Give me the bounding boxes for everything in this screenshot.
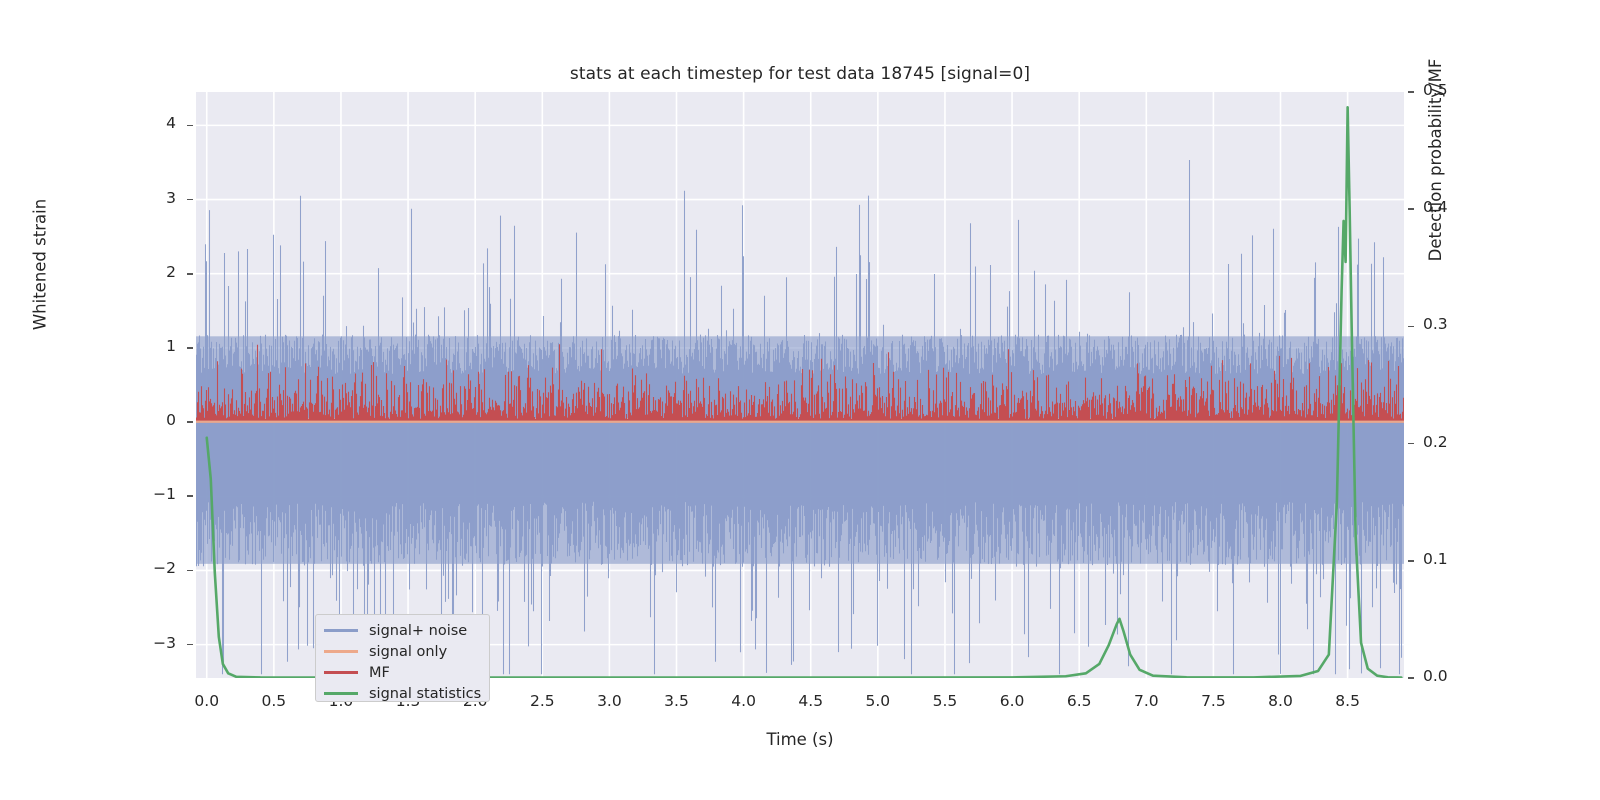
y-tick-left-neg3: −3 (136, 634, 176, 652)
legend-item-signal-statistics: signal statistics (324, 683, 481, 704)
y-tick-left-4: 4 (136, 114, 176, 132)
chart-title: stats at each timestep for test data 187… (196, 64, 1404, 84)
x-tick-4.0: 4.0 (714, 692, 774, 710)
y-tick-left-neg2: −2 (136, 559, 176, 577)
x-tick-5.0: 5.0 (848, 692, 908, 710)
plot-area (196, 92, 1404, 678)
y-tick-mark-right-4 (1408, 208, 1414, 210)
x-tick-2.5: 2.5 (512, 692, 572, 710)
x-tick-4.5: 4.5 (781, 692, 841, 710)
x-tick-5.5: 5.5 (915, 692, 975, 710)
y-tick-mark-left-3 (187, 421, 193, 423)
x-tick-0.0: 0.0 (177, 692, 237, 710)
y-tick-mark-left-5 (187, 273, 193, 275)
y-tick-mark-left-2 (187, 495, 193, 497)
x-tick-7.0: 7.0 (1116, 692, 1176, 710)
plot-svg (196, 92, 1404, 678)
y-tick-right-0.2: 0.2 (1423, 433, 1483, 451)
y-tick-right-0.5: 0.5 (1423, 81, 1483, 99)
x-tick-6.0: 6.0 (982, 692, 1042, 710)
y-tick-left-3: 3 (136, 189, 176, 207)
y-tick-mark-right-3 (1408, 326, 1414, 328)
y-tick-mark-left-7 (187, 125, 193, 127)
y-tick-mark-right-2 (1408, 443, 1414, 445)
y-tick-right-0.1: 0.1 (1423, 550, 1483, 568)
y-tick-left-2: 2 (136, 263, 176, 281)
x-tick-6.5: 6.5 (1049, 692, 1109, 710)
y-tick-mark-right-5 (1408, 91, 1414, 93)
y-tick-mark-left-6 (187, 199, 193, 201)
x-tick-8.5: 8.5 (1318, 692, 1378, 710)
y-tick-mark-right-1 (1408, 560, 1414, 562)
y-tick-left-0: 0 (136, 411, 176, 429)
y-tick-mark-left-1 (187, 570, 193, 572)
legend-swatch-signal-plus-noise (324, 629, 358, 632)
legend-label-mf: MF (369, 665, 390, 681)
legend-item-mf: MF (324, 662, 481, 683)
figure-canvas: stats at each timestep for test data 187… (0, 0, 1600, 800)
x-axis-label: Time (s) (196, 730, 1404, 749)
y-axis-right-label: Detection probability/MF (1426, 30, 1445, 290)
legend-label-signal-only: signal only (369, 644, 447, 660)
x-tick-3.0: 3.0 (579, 692, 639, 710)
legend-label-signal-plus-noise: signal+ noise (369, 623, 467, 639)
y-tick-left-1: 1 (136, 337, 176, 355)
legend-swatch-signal-only (324, 650, 358, 653)
legend-item-signal-plus-noise: signal+ noise (324, 620, 481, 641)
legend-swatch-mf (324, 671, 358, 674)
legend-item-signal-only: signal only (324, 641, 481, 662)
x-tick-3.5: 3.5 (647, 692, 707, 710)
x-tick-0.5: 0.5 (244, 692, 304, 710)
y-tick-right-0.3: 0.3 (1423, 315, 1483, 333)
y-axis-left-label: Whitened strain (31, 165, 50, 365)
x-tick-8.0: 8.0 (1251, 692, 1311, 710)
chart-legend: signal+ noise signal only MF signal stat… (315, 614, 490, 702)
legend-label-signal-statistics: signal statistics (369, 686, 481, 702)
y-tick-right-0.0: 0.0 (1423, 667, 1483, 685)
y-tick-mark-left-4 (187, 347, 193, 349)
y-tick-mark-left-0 (187, 644, 193, 646)
x-tick-7.5: 7.5 (1183, 692, 1243, 710)
y-tick-left-neg1: −1 (136, 485, 176, 503)
legend-swatch-signal-statistics (324, 692, 358, 695)
y-tick-right-0.4: 0.4 (1423, 198, 1483, 216)
y-tick-mark-right-0 (1408, 677, 1414, 679)
